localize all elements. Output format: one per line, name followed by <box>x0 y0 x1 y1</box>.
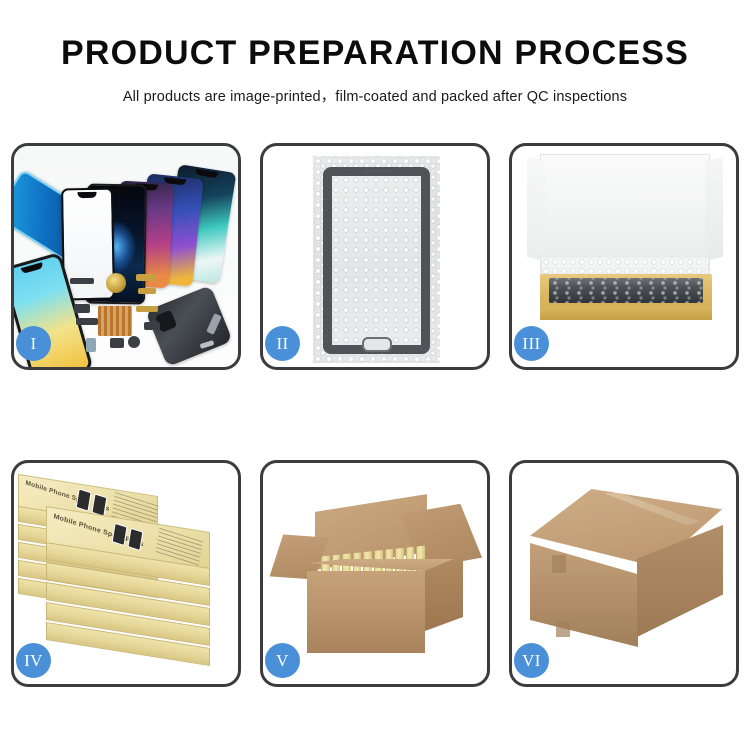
step-badge-3: III <box>514 326 549 361</box>
notch-icon <box>195 169 219 179</box>
step-badge-6: VI <box>514 643 549 678</box>
page-subtitle: All products are image-printed，film-coat… <box>0 85 750 106</box>
step-badge-2: II <box>265 326 300 361</box>
process-step-panel-2: II <box>260 143 490 370</box>
box-front-lip-icon <box>540 307 712 320</box>
box-lid-icon <box>540 154 710 274</box>
process-step-panel-6: VI <box>509 460 739 687</box>
small-part-icon <box>128 336 140 348</box>
process-step-panel-3: III <box>509 143 739 370</box>
flex-cable-part-icon <box>136 274 156 281</box>
box-phone-art-icon <box>76 488 92 511</box>
wrapped-screen-icon <box>323 167 430 354</box>
process-step-panel-5: V <box>260 460 490 687</box>
box-artwork-phones <box>112 523 144 551</box>
chip-array-part-icon <box>98 306 132 336</box>
carton-seam-icon <box>552 555 566 573</box>
small-part-icon <box>74 304 90 313</box>
process-step-panel-1: I <box>11 143 241 370</box>
step-badge-4: IV <box>16 643 51 678</box>
box-phone-art-icon <box>112 523 128 546</box>
product-preparation-infographic: PRODUCT PREPARATION PROCESS All products… <box>0 0 750 750</box>
small-part-icon <box>70 278 94 284</box>
carton-seam-icon <box>556 621 570 637</box>
process-step-panel-4: Mobile Phone Spare Parts Mobile Phone Sp… <box>11 460 241 687</box>
speaker-coil-part-icon <box>106 273 126 293</box>
notch-icon <box>78 192 97 198</box>
page-title: PRODUCT PREPARATION PROCESS <box>0 34 750 73</box>
small-part-icon <box>86 338 96 352</box>
small-part-icon <box>76 318 98 325</box>
small-part-icon <box>144 322 160 330</box>
carton-front-face-icon <box>307 571 425 653</box>
header: PRODUCT PREPARATION PROCESS All products… <box>0 0 750 106</box>
step-badge-1: I <box>16 326 51 361</box>
kraft-box-tray-icon <box>540 274 712 320</box>
process-step-grid: I II III <box>11 143 739 687</box>
bubble-wrap-icon <box>313 156 440 363</box>
step-badge-5: V <box>265 643 300 678</box>
small-part-icon <box>110 338 124 348</box>
packed-screen-icon <box>549 278 703 303</box>
notch-icon <box>21 262 44 274</box>
flex-cable-part-icon <box>136 306 158 312</box>
carton-front-face-icon <box>530 543 638 647</box>
flex-cable-part-icon <box>138 288 156 294</box>
